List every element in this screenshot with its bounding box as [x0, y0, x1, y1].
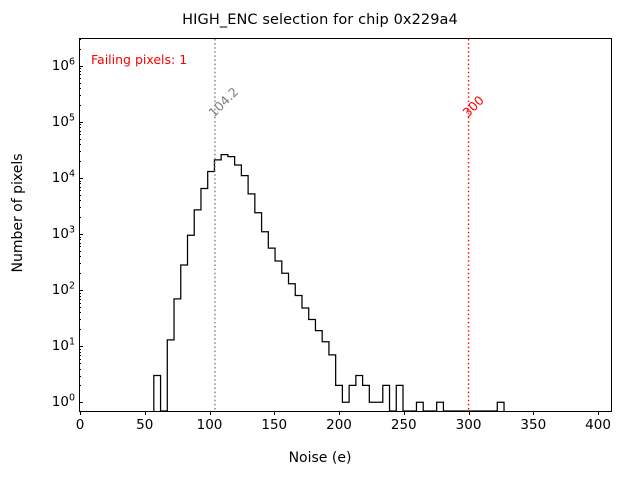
tick-mark: [210, 411, 211, 415]
y-tick-label: 101: [31, 338, 75, 354]
tick-mark: [80, 411, 81, 415]
tick-mark: [79, 134, 81, 135]
tick-mark: [79, 319, 81, 320]
y-tick-label: 104: [31, 170, 75, 186]
tick-mark: [79, 190, 81, 191]
tick-mark: [79, 124, 81, 125]
tick-mark: [79, 39, 81, 40]
tick-mark: [79, 293, 81, 294]
x-tick-label: 250: [391, 417, 417, 433]
y-tick-label: 105: [31, 114, 75, 130]
tick-mark: [79, 78, 81, 79]
tick-mark: [79, 74, 81, 75]
tick-mark: [79, 296, 81, 297]
tick-mark: [79, 83, 81, 84]
tick-mark: [79, 49, 81, 50]
tick-mark: [79, 307, 81, 308]
tick-mark: [79, 363, 81, 364]
histogram-outline: [154, 155, 504, 411]
tick-mark: [79, 239, 81, 240]
tick-mark: [79, 139, 81, 140]
tick-mark: [79, 359, 81, 360]
tick-mark: [79, 290, 83, 291]
x-tick-label: 400: [585, 417, 611, 433]
tick-mark: [79, 243, 81, 244]
tick-mark: [79, 183, 81, 184]
tick-mark: [79, 88, 81, 89]
x-tick-label: 50: [136, 417, 153, 433]
tick-mark: [79, 273, 81, 274]
tick-mark: [79, 329, 81, 330]
tick-mark: [79, 195, 81, 196]
tick-mark: [79, 234, 83, 235]
tick-mark: [145, 411, 146, 415]
tick-mark: [79, 256, 81, 257]
tick-mark: [79, 200, 81, 201]
tick-mark: [339, 411, 340, 415]
tick-mark: [79, 187, 81, 188]
tick-mark: [79, 402, 83, 403]
tick-mark: [79, 178, 83, 179]
tick-mark: [79, 385, 81, 386]
tick-mark: [79, 355, 81, 356]
tick-mark: [79, 181, 81, 182]
tick-mark: [79, 312, 81, 313]
tick-mark: [404, 411, 405, 415]
tick-mark: [79, 237, 81, 238]
tick-mark: [469, 411, 470, 415]
tick-mark: [79, 251, 81, 252]
x-tick-label: 150: [261, 417, 287, 433]
y-tick-label: 103: [31, 226, 75, 242]
tick-mark: [79, 299, 81, 300]
tick-mark: [79, 144, 81, 145]
tick-mark: [79, 303, 81, 304]
tick-mark: [274, 411, 275, 415]
tick-mark: [79, 161, 81, 162]
tick-mark: [79, 68, 81, 69]
tick-mark: [79, 217, 81, 218]
x-tick-label: 200: [326, 417, 352, 433]
tick-mark: [79, 105, 81, 106]
tick-mark: [79, 369, 81, 370]
x-tick-label: 100: [197, 417, 223, 433]
tick-mark: [79, 122, 83, 123]
tick-mark: [79, 246, 81, 247]
y-axis-label: Number of pixels: [10, 113, 26, 313]
x-tick-label: 0: [76, 417, 85, 433]
y-tick-label: 102: [31, 282, 75, 298]
tick-mark: [79, 352, 81, 353]
tick-mark: [79, 131, 81, 132]
plot-area: [79, 38, 612, 412]
y-tick-label: 106: [31, 58, 75, 74]
tick-mark: [79, 263, 81, 264]
tick-mark: [79, 127, 81, 128]
tick-mark: [79, 376, 81, 377]
tick-mark: [79, 346, 83, 347]
page-title: HIGH_ENC selection for chip 0x229a4: [0, 12, 640, 28]
plot-canvas: [80, 39, 611, 411]
tick-mark: [598, 411, 599, 415]
tick-mark: [79, 151, 81, 152]
tick-mark: [533, 411, 534, 415]
tick-mark: [79, 349, 81, 350]
x-axis-label: Noise (e): [0, 450, 640, 466]
histogram-figure: HIGH_ENC selection for chip 0x229a4 0501…: [0, 0, 640, 480]
tick-mark: [79, 207, 81, 208]
tick-mark: [79, 95, 81, 96]
y-tick-label: 100: [31, 394, 75, 410]
x-tick-label: 350: [520, 417, 546, 433]
failing-pixels-annotation: Failing pixels: 1: [91, 52, 187, 67]
tick-mark: [79, 71, 81, 72]
x-tick-label: 300: [456, 417, 482, 433]
tick-mark: [79, 66, 83, 67]
